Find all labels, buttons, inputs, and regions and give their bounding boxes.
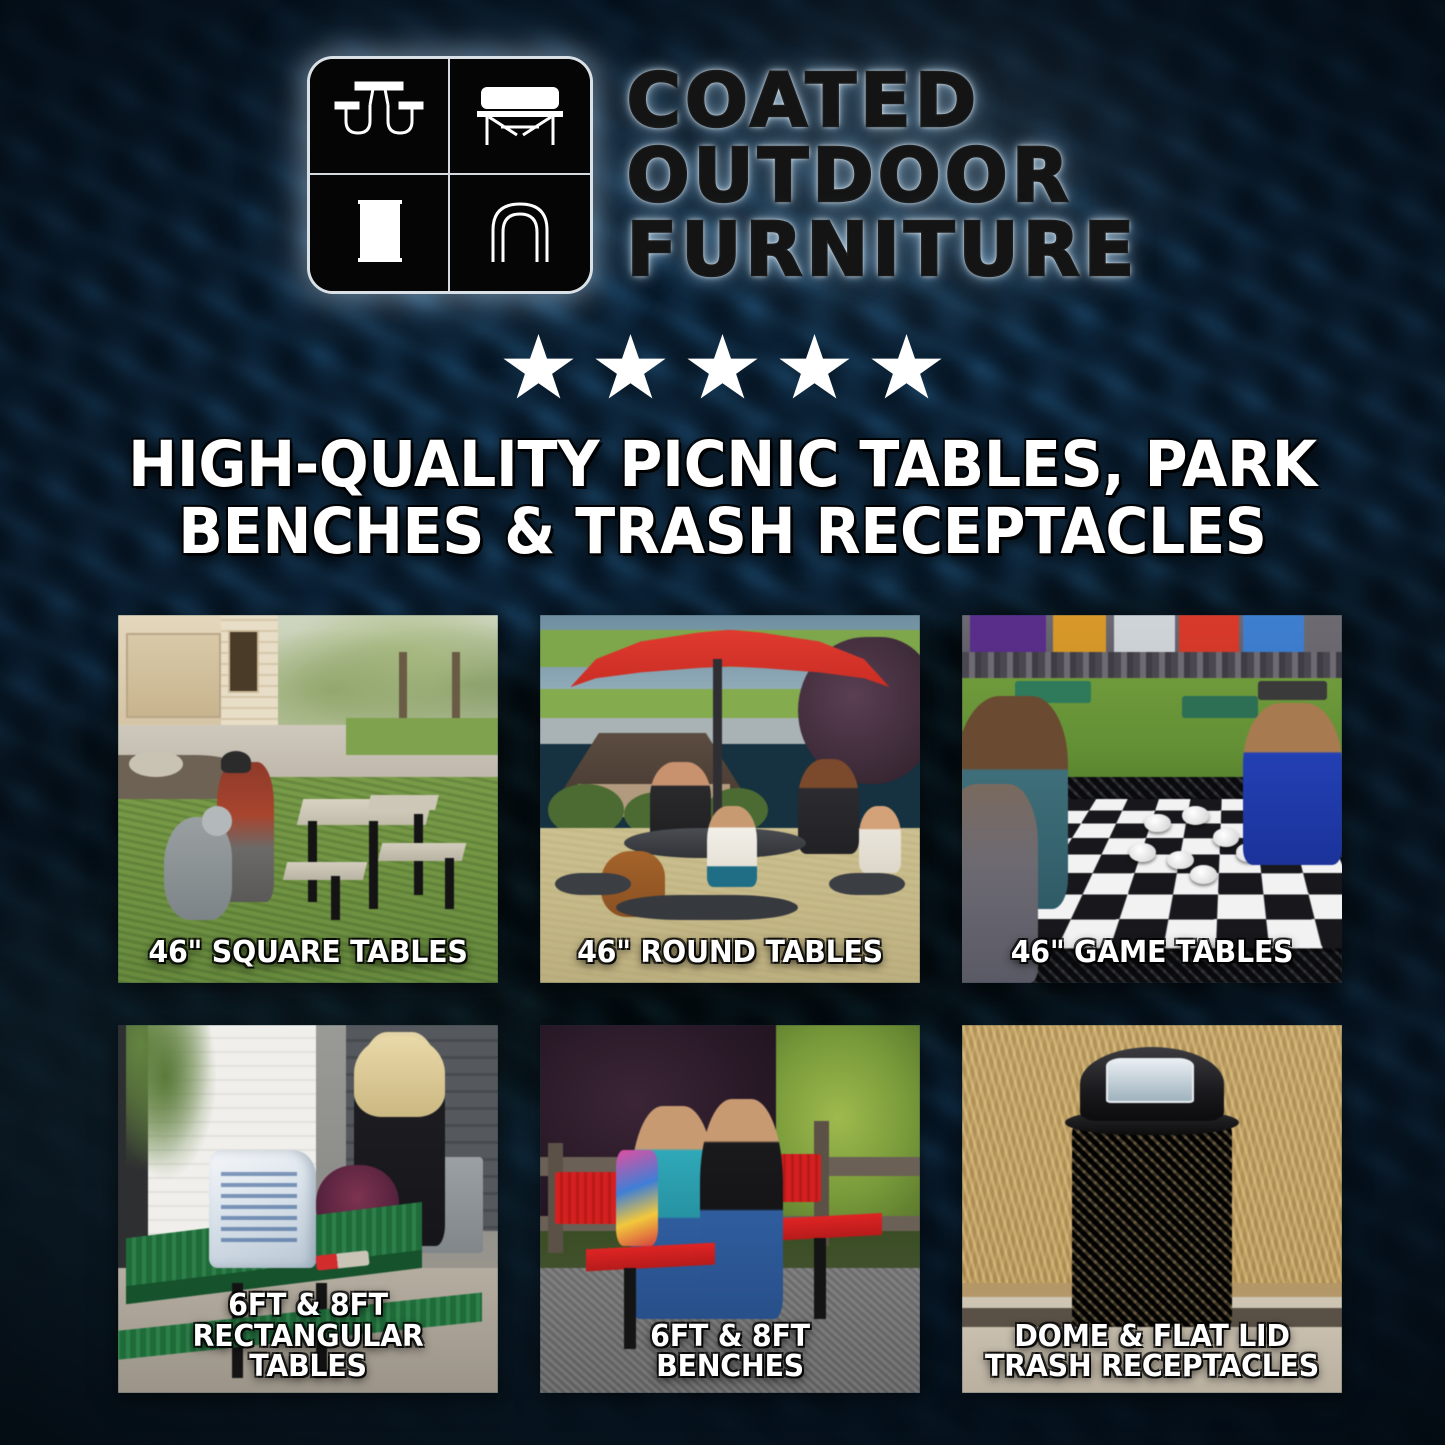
caption-line-1: 6FT & 8FT <box>133 1291 483 1322</box>
product-caption-benches: 6FT & 8FT BENCHES <box>555 1322 905 1383</box>
promotional-poster: COATED OUTDOOR FURNITURE HIGH-QUALITY PI… <box>0 0 1445 1445</box>
caption-line-2: BENCHES <box>555 1352 905 1383</box>
product-tile-round-tables[interactable]: 46" ROUND TABLES <box>540 615 920 983</box>
star-icon <box>503 334 575 404</box>
brand-line-3: FURNITURE <box>627 214 1139 287</box>
star-icon <box>779 334 851 404</box>
brand-line-2: OUTDOOR <box>627 140 1139 213</box>
trash-receptacle-icon <box>310 175 450 291</box>
product-caption-rectangular-tables: 6FT & 8FT RECTANGULAR TABLES <box>133 1291 483 1383</box>
product-caption-round-tables: 46" ROUND TABLES <box>555 938 905 969</box>
caption-line-2: TRASH RECEPTACLES <box>977 1352 1327 1383</box>
star-icon <box>871 334 943 404</box>
brand-header: COATED OUTDOOR FURNITURE <box>0 56 1445 294</box>
caption-line-1: 46" ROUND TABLES <box>555 938 905 969</box>
company-logo <box>307 56 593 294</box>
caption-line-1: DOME & FLAT LID <box>977 1322 1327 1353</box>
product-photo-game-tables <box>962 615 1342 983</box>
caption-line-1: 46" SQUARE TABLES <box>133 938 483 969</box>
page-title: HIGH-QUALITY PICNIC TABLES, PARK BENCHES… <box>106 432 1338 566</box>
product-caption-trash-receptacles: DOME & FLAT LID TRASH RECEPTACLES <box>977 1322 1327 1383</box>
product-photo-square-tables <box>118 615 498 983</box>
caption-line-1: 46" GAME TABLES <box>977 938 1327 969</box>
product-caption-game-tables: 46" GAME TABLES <box>977 938 1327 969</box>
product-tile-square-tables[interactable]: 46" SQUARE TABLES <box>118 615 498 983</box>
product-grid: 46" SQUARE TABLES <box>118 615 1342 1393</box>
headline-line-1: HIGH-QUALITY PICNIC TABLES, PARK <box>106 432 1338 499</box>
product-caption-square-tables: 46" SQUARE TABLES <box>133 938 483 969</box>
product-photo-round-tables <box>540 615 920 983</box>
product-tile-benches[interactable]: 6FT & 8FT BENCHES <box>540 1025 920 1393</box>
product-tile-trash-receptacles[interactable]: DOME & FLAT LID TRASH RECEPTACLES <box>962 1025 1342 1393</box>
brand-line-1: COATED <box>627 65 1139 138</box>
bench-side-icon <box>450 59 590 175</box>
bike-rack-arch-icon <box>450 175 590 291</box>
product-tile-rectangular-tables[interactable]: 6FT & 8FT RECTANGULAR TABLES <box>118 1025 498 1393</box>
brand-wordmark: COATED OUTDOOR FURNITURE <box>627 63 1139 287</box>
caption-line-1: 6FT & 8FT <box>555 1322 905 1353</box>
star-icon <box>687 334 759 404</box>
picnic-table-icon <box>310 59 450 175</box>
caption-line-2: RECTANGULAR TABLES <box>133 1322 483 1383</box>
star-icon <box>595 334 667 404</box>
product-tile-game-tables[interactable]: 46" GAME TABLES <box>962 615 1342 983</box>
star-rating <box>0 334 1445 404</box>
headline-line-2: BENCHES & TRASH RECEPTACLES <box>106 499 1338 566</box>
